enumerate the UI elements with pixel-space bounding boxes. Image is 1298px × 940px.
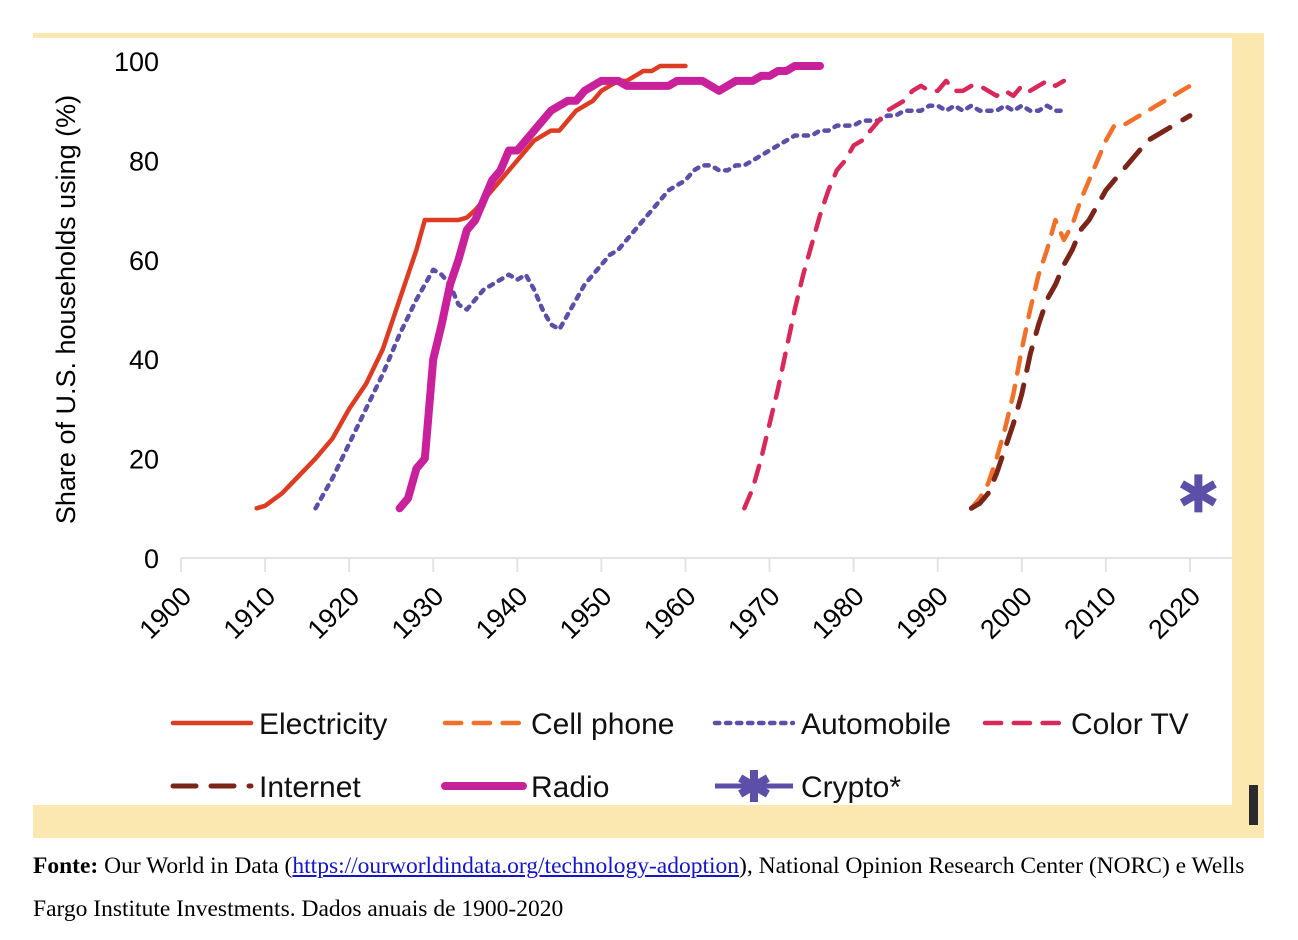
y-axis-ticks: 020406080100 (114, 47, 159, 574)
legend-label: Electricity (259, 708, 387, 741)
x-tick-label: 1970 (722, 581, 786, 645)
x-tick-label: 1920 (302, 581, 366, 645)
legend-item[interactable]: Internet (173, 771, 361, 804)
legend-item[interactable]: Radio (445, 771, 609, 804)
series-line (971, 86, 1190, 508)
legend-label: Color TV (1071, 708, 1189, 741)
source-footnote: Fonte: Our World in Data (https://ourwor… (33, 845, 1273, 932)
legend-item[interactable]: Color TV (985, 708, 1189, 741)
y-tick-label: 60 (129, 246, 159, 276)
series-lines (257, 66, 1215, 512)
technology-adoption-figure: 020406080100 190019101920193019401950196… (0, 0, 1298, 940)
series-line (257, 66, 686, 508)
x-tick-label: 1930 (386, 581, 450, 645)
legend-item[interactable]: Electricity (173, 708, 387, 741)
x-tick-label: 1910 (218, 581, 282, 645)
legend-label: Internet (259, 771, 361, 804)
legend-label: Cell phone (531, 708, 674, 741)
x-axis-ticks: 1900191019201930194019501960197019801990… (134, 558, 1207, 645)
series-line (400, 66, 820, 508)
legend-item[interactable]: Crypto* (715, 770, 901, 804)
x-tick-label: 1960 (638, 581, 702, 645)
footnote-label: Fonte: (33, 853, 98, 879)
y-tick-label: 80 (129, 146, 159, 176)
legend-label: Automobile (801, 708, 951, 741)
y-axis-title: Share of U.S. households using (%) (51, 95, 81, 524)
x-tick-label: 1940 (470, 581, 534, 645)
x-tick-label: 2000 (974, 581, 1038, 645)
source-link[interactable]: https://ourworldindata.org/technology-ad… (292, 853, 739, 879)
line-chart: 020406080100 190019101920193019401950196… (33, 33, 1264, 838)
x-tick-label: 2020 (1143, 581, 1207, 645)
y-tick-label: 100 (114, 47, 159, 77)
y-tick-label: 0 (144, 544, 159, 574)
x-tick-label: 1950 (554, 581, 618, 645)
footnote-text-before-link: Our World in Data ( (98, 853, 292, 879)
legend-item[interactable]: Automobile (715, 708, 951, 741)
x-tick-label: 1980 (806, 581, 870, 645)
series-line (744, 81, 1063, 508)
crypto-asterisk-marker (1182, 474, 1215, 512)
legend-label: Crypto* (801, 771, 901, 804)
legend-item[interactable]: Cell phone (445, 708, 674, 741)
x-tick-label: 1990 (890, 581, 954, 645)
y-tick-label: 40 (129, 345, 159, 375)
series-line (971, 116, 1190, 509)
x-tick-label: 1900 (134, 581, 198, 645)
y-axis-title-text: Share of U.S. households using (%) (51, 95, 81, 524)
x-tick-label: 2010 (1058, 581, 1122, 645)
legend-label: Radio (531, 771, 609, 804)
y-tick-label: 20 (129, 445, 159, 475)
chart-legend: ElectricityCell phoneAutomobileColor TVI… (173, 708, 1189, 804)
